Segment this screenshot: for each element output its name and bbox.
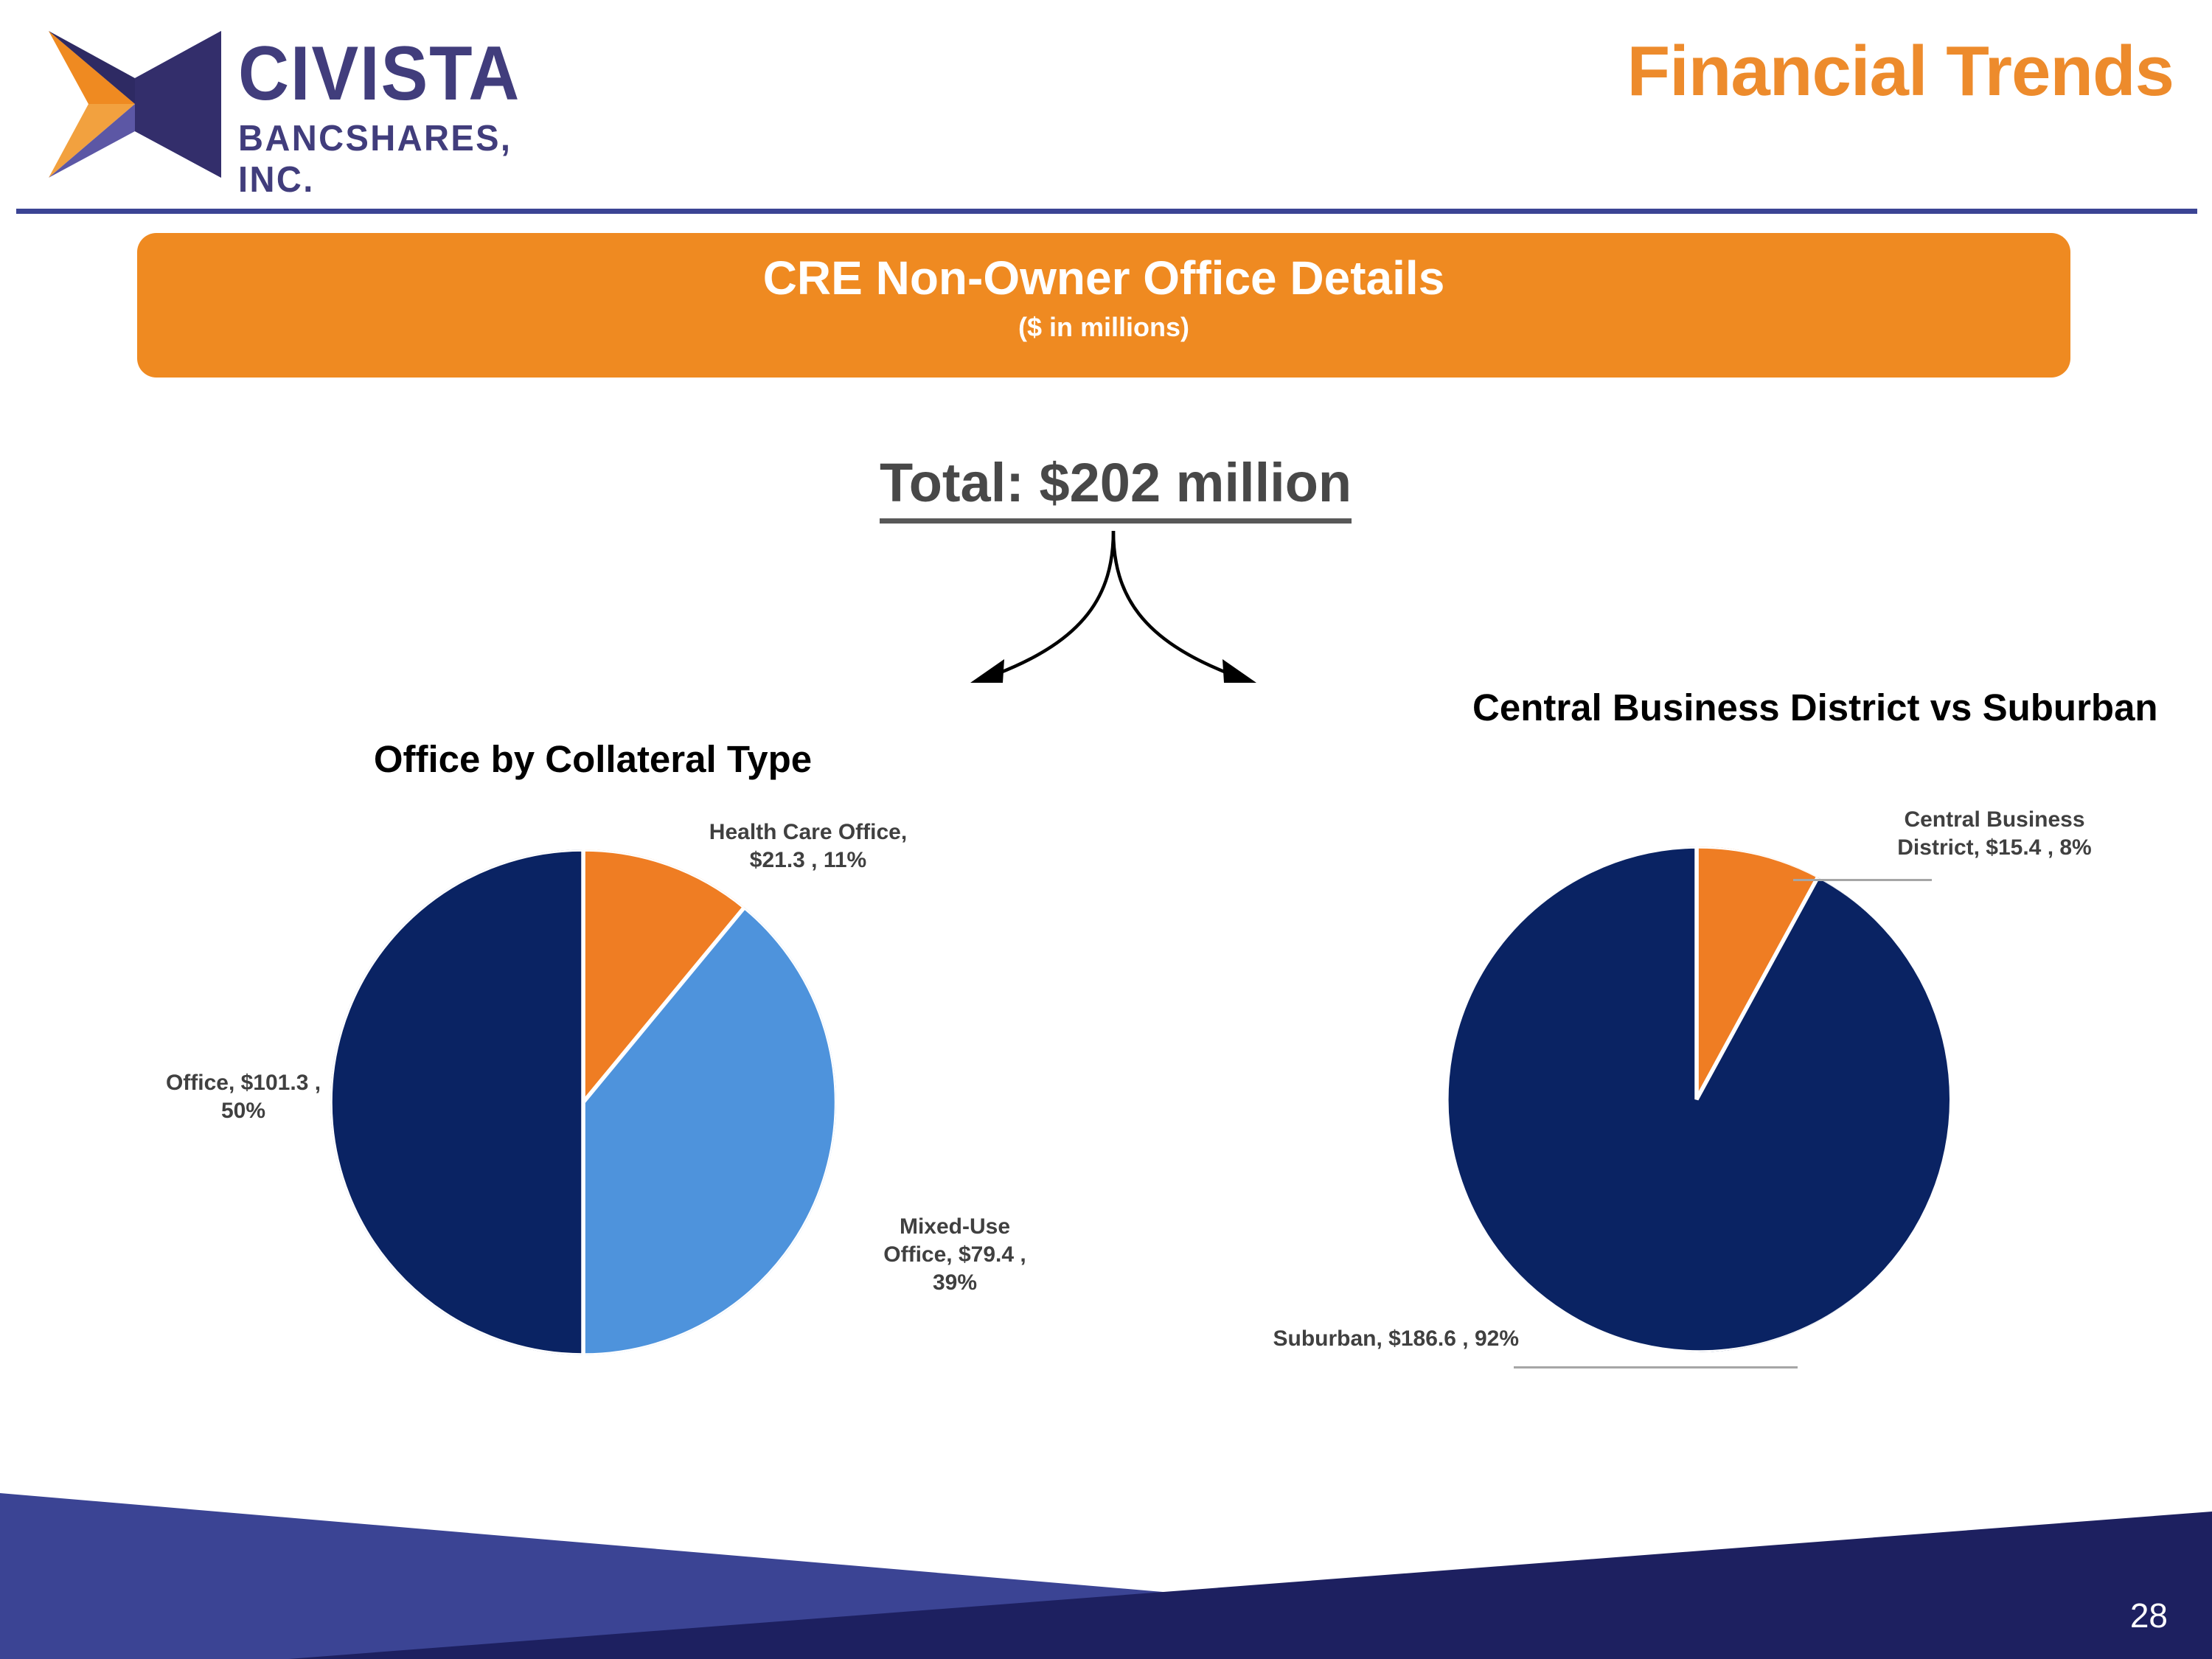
pie-chart-office-by-collateral-type [330, 849, 836, 1355]
pie-label-health-care-office: Health Care Office, $21.3 , 11% [653, 818, 963, 874]
civista-logo: CIVISTA BANCSHARES, INC. [28, 6, 574, 190]
chart-title-cbd-vs-suburban: Central Business District vs Suburban [1472, 686, 1930, 730]
page-number: 28 [2130, 1596, 2168, 1635]
pie-label-central-business-district: Central Business District, $15.4 , 8% [1840, 806, 2149, 862]
page-title: Financial Trends [1627, 31, 2174, 112]
section-banner: CRE Non-Owner Office Details ($ in milli… [137, 233, 2070, 378]
section-banner-title: CRE Non-Owner Office Details [137, 233, 2070, 303]
pie-label-suburban: Suburban, $186.6 , 92% [1187, 1325, 1519, 1353]
chart-title-office-by-collateral-type: Office by Collateral Type [364, 737, 821, 782]
pie-label-office: Office, $101.3 , 50% [103, 1069, 383, 1125]
slide: CIVISTA BANCSHARES, INC. Financial Trend… [0, 0, 2212, 1659]
civista-star-icon [43, 27, 227, 185]
pie-label-mixed-use-office: Mixed-Use Office, $79.4 , 39% [807, 1213, 1102, 1296]
footer-decoration [0, 1467, 2212, 1659]
logo-primary-text: CIVISTA [238, 37, 543, 112]
logo-secondary-text: BANCSHARES, INC. [238, 118, 557, 201]
civista-wordmark: CIVISTA BANCSHARES, INC. [238, 37, 570, 201]
header-divider [16, 209, 2197, 214]
leader-line-cbd [1793, 879, 1932, 881]
leader-line-suburban [1514, 1366, 1798, 1368]
total-label: Total: $202 million [880, 451, 1352, 524]
section-banner-subtitle: ($ in millions) [137, 303, 2070, 343]
split-arrow-icon [959, 529, 1268, 699]
pie-chart-cbd-vs-suburban [1444, 846, 1950, 1352]
